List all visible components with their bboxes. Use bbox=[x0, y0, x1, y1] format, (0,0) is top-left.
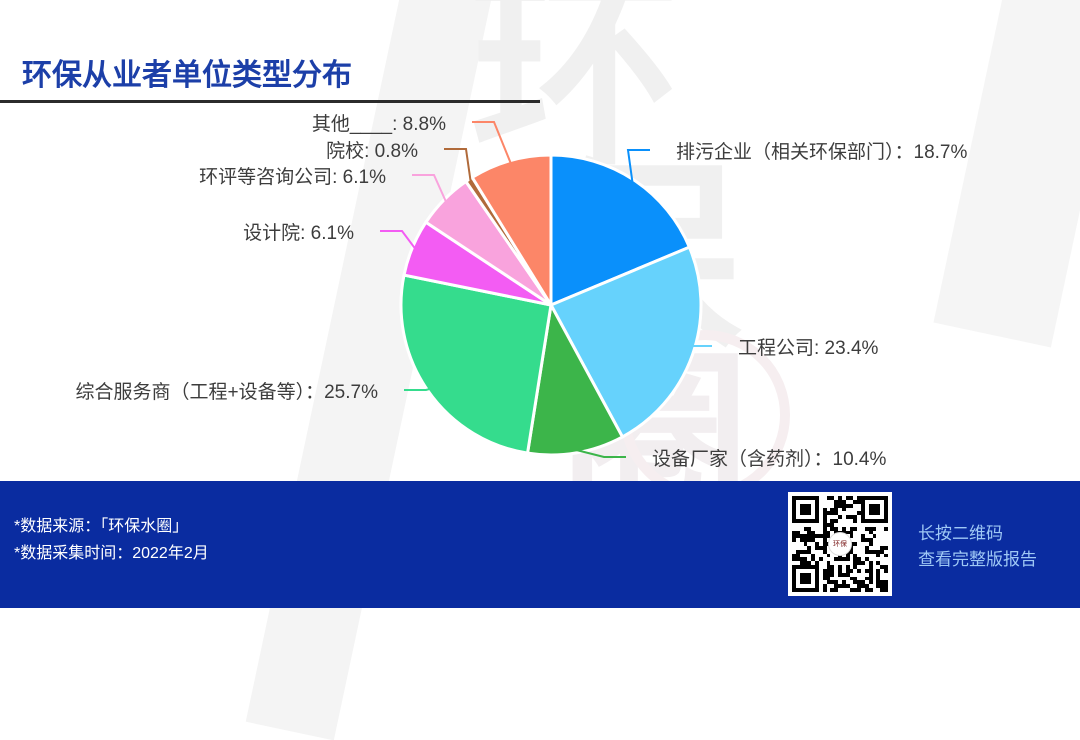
page-title: 环保从业者单位类型分布 bbox=[22, 50, 352, 94]
qr-module bbox=[823, 588, 827, 592]
footnote-time: *数据采集时间：2022年2月 bbox=[14, 540, 209, 567]
qr-module bbox=[884, 527, 888, 531]
footer-bar: *数据来源：「环保水圈」 *数据采集时间：2022年2月 环保 长按二维码 查看… bbox=[0, 481, 1080, 608]
qr-code-matrix: 环保 bbox=[792, 496, 888, 592]
pie-leader-line bbox=[404, 389, 430, 390]
qr-module bbox=[834, 519, 838, 523]
qr-module bbox=[827, 554, 831, 558]
qr-module bbox=[850, 569, 854, 573]
qr-module bbox=[838, 515, 842, 519]
footnote-source: *数据来源：「环保水圈」 bbox=[14, 513, 209, 540]
qr-module bbox=[853, 519, 857, 523]
pie-slice-label: 排污企业（相关环保部门）：18.7% bbox=[676, 137, 967, 164]
qr-module bbox=[834, 588, 838, 592]
pie-leader-line bbox=[628, 150, 650, 183]
qr-module bbox=[873, 527, 877, 531]
qr-module bbox=[884, 546, 888, 550]
qr-module bbox=[869, 580, 873, 584]
qr-module bbox=[842, 508, 846, 512]
qr-module bbox=[792, 538, 796, 542]
qr-module bbox=[846, 557, 850, 561]
pie-leader-line bbox=[380, 231, 415, 249]
qr-caption-line1: 长按二维码 bbox=[918, 521, 1037, 547]
pie-slice-label: 工程公司: 23.4% bbox=[738, 333, 878, 360]
qr-module bbox=[861, 561, 865, 565]
qr-module bbox=[807, 580, 811, 584]
pie-leader-line bbox=[472, 122, 511, 164]
pie-leader-line bbox=[444, 149, 471, 182]
qr-module bbox=[815, 588, 819, 592]
qr-caption-line2: 查看完整版报告 bbox=[918, 547, 1037, 573]
qr-module bbox=[884, 569, 888, 573]
qr-module bbox=[876, 554, 880, 558]
qr-code[interactable]: 环保 bbox=[788, 492, 892, 596]
title-underline-rule bbox=[0, 100, 540, 103]
qr-code-logo: 环保 bbox=[828, 532, 852, 556]
qr-module bbox=[884, 588, 888, 592]
qr-module bbox=[869, 588, 873, 592]
pie-slice-label: 设备厂家（含药剂）：10.4% bbox=[652, 444, 886, 471]
pie-slice-label: 环评等咨询公司: 6.1% bbox=[199, 162, 386, 189]
pie-slice-label: 综合服务商（工程+设备等）：25.7% bbox=[76, 377, 378, 404]
qr-module bbox=[857, 569, 861, 573]
qr-module bbox=[884, 519, 888, 523]
pie-leader-line bbox=[576, 450, 626, 457]
pie-leader-line bbox=[412, 175, 446, 202]
qr-module bbox=[884, 554, 888, 558]
qr-module bbox=[876, 511, 880, 515]
pie-slice-label: 设计院: 6.1% bbox=[243, 218, 354, 245]
qr-module bbox=[857, 588, 861, 592]
qr-module bbox=[815, 519, 819, 523]
qr-module bbox=[853, 542, 857, 546]
qr-module bbox=[853, 527, 857, 531]
pie-slice-label: 其他____: 8.8% bbox=[312, 109, 446, 136]
qr-caption: 长按二维码 查看完整版报告 bbox=[918, 521, 1037, 573]
qr-module bbox=[819, 557, 823, 561]
qr-module bbox=[873, 534, 877, 538]
qr-module bbox=[869, 542, 873, 546]
qr-module bbox=[830, 573, 834, 577]
footnotes: *数据来源：「环保水圈」 *数据采集时间：2022年2月 bbox=[14, 513, 209, 567]
pie-slice-label: 院校: 0.8% bbox=[326, 136, 418, 163]
qr-module bbox=[807, 511, 811, 515]
qr-module bbox=[850, 504, 854, 508]
